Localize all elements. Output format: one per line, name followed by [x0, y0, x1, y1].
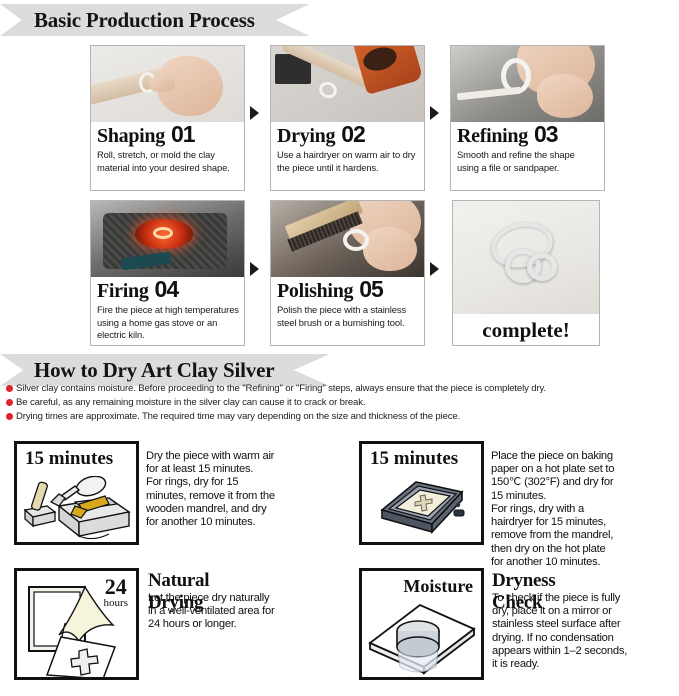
complete-photo	[453, 201, 599, 314]
step-photo-drying	[271, 46, 424, 122]
step-card-shaping: Shaping 01 Roll, stretch, or mold the cl…	[90, 45, 245, 191]
bullet-dot-icon	[6, 399, 13, 406]
step-card-refining: Refining 03 Smooth and refine the shape …	[450, 45, 605, 191]
arrow-icon-1	[250, 106, 259, 120]
method-text: Let the piece dry naturally in a well-ve…	[148, 592, 344, 632]
step-photo-refining	[451, 46, 604, 122]
step-photo-firing	[91, 201, 244, 277]
hairdryer-on-block-icon	[17, 476, 136, 542]
step-desc: Roll, stretch, or mold the clay material…	[97, 149, 239, 174]
method-badge: 24	[104, 577, 128, 598]
notes-list: Silver clay contains moisture. Before pr…	[6, 382, 674, 424]
method-badge-group: 24 hours	[104, 577, 128, 609]
step-desc: Smooth and refine the shape using a file…	[457, 149, 599, 174]
method-icon-box-moisture: Moisture	[359, 568, 484, 680]
step-name: Polishing	[277, 281, 353, 302]
note-item: Be careful, as any remaining moisture in…	[6, 396, 674, 410]
step-body-firing: Firing 04 Fire the piece at high tempera…	[91, 278, 244, 346]
step-desc: Polish the piece with a stainless steel …	[277, 304, 419, 329]
infographic-page: Basic Production Process Shaping 01 Roll…	[0, 0, 679, 696]
method-text: Dry the piece with warm air for at least…	[146, 450, 336, 529]
method-badge: 15 minutes	[25, 448, 113, 470]
method-badge: Moisture	[403, 576, 473, 597]
step-desc: Use a hairdryer on warm air to dry the p…	[277, 149, 419, 174]
step-desc: Fire the piece at high temperatures usin…	[97, 304, 239, 342]
method-icon-box-hotplate: 15 minutes	[359, 441, 484, 545]
method-icon-box-natural: 24 hours	[14, 568, 139, 680]
step-number: 03	[534, 123, 558, 146]
note-text: Drying times are approximate. The requir…	[16, 410, 460, 424]
section-title-process: Basic Production Process	[34, 8, 255, 33]
method-text: To check if the piece is fully dry, plac…	[492, 592, 678, 671]
step-card-polishing: Polishing 05 Polish the piece with a sta…	[270, 200, 425, 346]
method-text: Place the piece on baking paper on a hot…	[491, 450, 679, 569]
method-badge-sub: hours	[104, 598, 128, 609]
step-body-polishing: Polishing 05 Polish the piece with a sta…	[271, 278, 424, 333]
step-card-firing: Firing 04 Fire the piece at high tempera…	[90, 200, 245, 346]
step-name: Shaping	[97, 126, 165, 147]
method-icon-box-hairdryer: 15 minutes	[14, 441, 139, 545]
step-number: 02	[341, 123, 365, 146]
method-badge: 15 minutes	[370, 448, 458, 470]
arrow-icon-3	[250, 262, 259, 276]
step-name: Drying	[277, 126, 335, 147]
hot-plate-icon	[362, 474, 481, 540]
step-number: 04	[155, 278, 179, 301]
note-text: Silver clay contains moisture. Before pr…	[16, 382, 546, 396]
note-item: Silver clay contains moisture. Before pr…	[6, 382, 674, 396]
complete-label: complete!	[453, 314, 599, 345]
section-banner-process: Basic Production Process	[0, 4, 310, 36]
bullet-dot-icon	[6, 413, 13, 420]
step-body-refining: Refining 03 Smooth and refine the shape …	[451, 123, 604, 178]
step-body-shaping: Shaping 01 Roll, stretch, or mold the cl…	[91, 123, 244, 178]
step-card-complete: complete!	[452, 200, 600, 346]
step-body-drying: Drying 02 Use a hairdryer on warm air to…	[271, 123, 424, 178]
bullet-dot-icon	[6, 385, 13, 392]
step-photo-shaping	[91, 46, 244, 122]
step-name: Firing	[97, 281, 149, 302]
section-title-drying: How to Dry Art Clay Silver	[34, 358, 274, 383]
step-number: 05	[359, 278, 383, 301]
step-card-drying: Drying 02 Use a hairdryer on warm air to…	[270, 45, 425, 191]
note-text: Be careful, as any remaining moisture in…	[16, 396, 365, 410]
note-item: Drying times are approximate. The requir…	[6, 410, 674, 424]
mirror-condensation-icon	[362, 595, 481, 675]
step-number: 01	[171, 123, 195, 146]
step-name: Refining	[457, 126, 528, 147]
arrow-icon-4	[430, 262, 439, 276]
step-photo-polishing	[271, 201, 424, 277]
arrow-icon-2	[430, 106, 439, 120]
